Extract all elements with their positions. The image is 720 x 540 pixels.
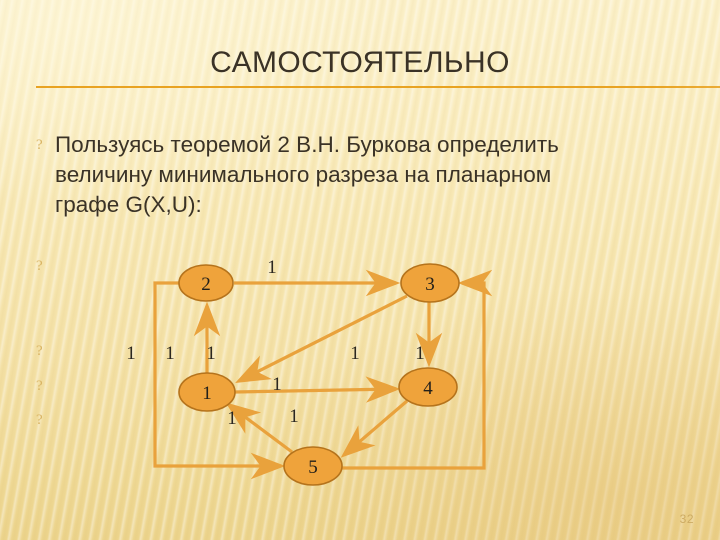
background-corner-shading [0,0,720,540]
page-title: САМОСТОЯТЕЛЬНО [0,46,720,80]
bullet-marker-1: ? [36,137,43,154]
body-paragraph: Пользуясь теоремой 2 В.Н. Буркова опреде… [55,130,575,220]
bullet-marker-5: ? [36,412,43,429]
bullet-marker-3: ? [36,343,43,360]
presentation-slide: САМОСТОЯТЕЛЬНО ? ? ? ? ? Пользуясь теоре… [0,0,720,540]
bullet-marker-4: ? [36,378,43,395]
title-underline-rule [36,86,720,88]
bullet-marker-2: ? [36,258,43,275]
slide-number: 32 [680,512,694,526]
title-block: САМОСТОЯТЕЛЬНО [0,46,720,80]
